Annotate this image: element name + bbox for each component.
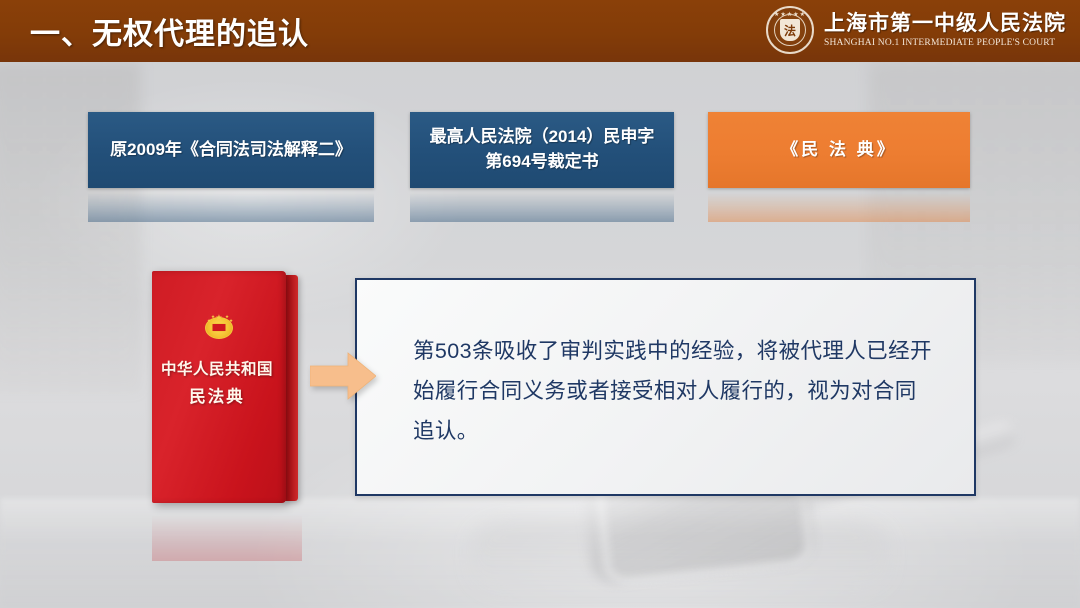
emblem-star-4: ★ (229, 319, 233, 324)
court-brand: ★★★★★ 法 上海市第一中级人民法院 SHANGHAI NO.1 INTERM… (766, 6, 1066, 54)
seal-stars: ★★★★★ (768, 11, 812, 18)
header-bar: 一、无权代理的追认 ★★★★★ 法 上海市第一中级人民法院 SHANGHAI N… (0, 0, 1080, 62)
book-title-line-2: 民法典 (152, 383, 282, 407)
book-title-line-1: 中华人民共和国 (152, 357, 282, 379)
source-card-2[interactable]: 最高人民法院（2014）民申字第694号裁定书 (410, 112, 674, 222)
background-gavel-base (470, 520, 890, 596)
civil-code-book[interactable]: ★ ★ ★ ★ ★ 中华人民共和国 民法典 (152, 271, 297, 503)
court-seal-icon: ★★★★★ 法 (766, 6, 814, 54)
national-emblem-icon: ★ ★ ★ ★ ★ (202, 311, 236, 341)
emblem-star-2: ★ (211, 315, 215, 320)
emblem-star-center: ★ (215, 314, 222, 322)
emblem-star-1: ★ (207, 319, 211, 324)
source-card-1[interactable]: 原2009年《合同法司法解释二》 (88, 112, 374, 222)
content-callout-box: 第503条吸收了审判实践中的经验，将被代理人已经开始履行合同义务或者接受相对人履… (355, 278, 976, 496)
source-card-1-reflection (88, 188, 374, 222)
slide-canvas: 一、无权代理的追认 ★★★★★ 法 上海市第一中级人民法院 SHANGHAI N… (0, 0, 1080, 608)
source-card-3-reflection (708, 188, 970, 222)
emblem-gate (212, 323, 227, 332)
book-reflection (152, 503, 302, 561)
court-name-cn: 上海市第一中级人民法院 (824, 12, 1066, 36)
source-card-3-label: 《民 法 典》 (708, 112, 970, 188)
source-card-1-label: 原2009年《合同法司法解释二》 (88, 112, 374, 188)
source-card-2-reflection (410, 188, 674, 222)
seal-shield-glyph: 法 (780, 19, 800, 41)
source-card-3[interactable]: 《民 法 典》 (708, 112, 970, 222)
source-card-2-label: 最高人民法院（2014）民申字第694号裁定书 (410, 112, 674, 188)
book-cover: ★ ★ ★ ★ ★ 中华人民共和国 民法典 (152, 271, 286, 503)
court-name-block: 上海市第一中级人民法院 SHANGHAI NO.1 INTERMEDIATE P… (824, 12, 1066, 48)
page-title: 一、无权代理的追认 (30, 9, 309, 53)
content-text: 第503条吸收了审判实践中的经验，将被代理人已经开始履行合同义务或者接受相对人履… (413, 332, 938, 451)
right-arrow-icon (310, 352, 376, 400)
court-name-en: SHANGHAI NO.1 INTERMEDIATE PEOPLE'S COUR… (824, 38, 1055, 48)
